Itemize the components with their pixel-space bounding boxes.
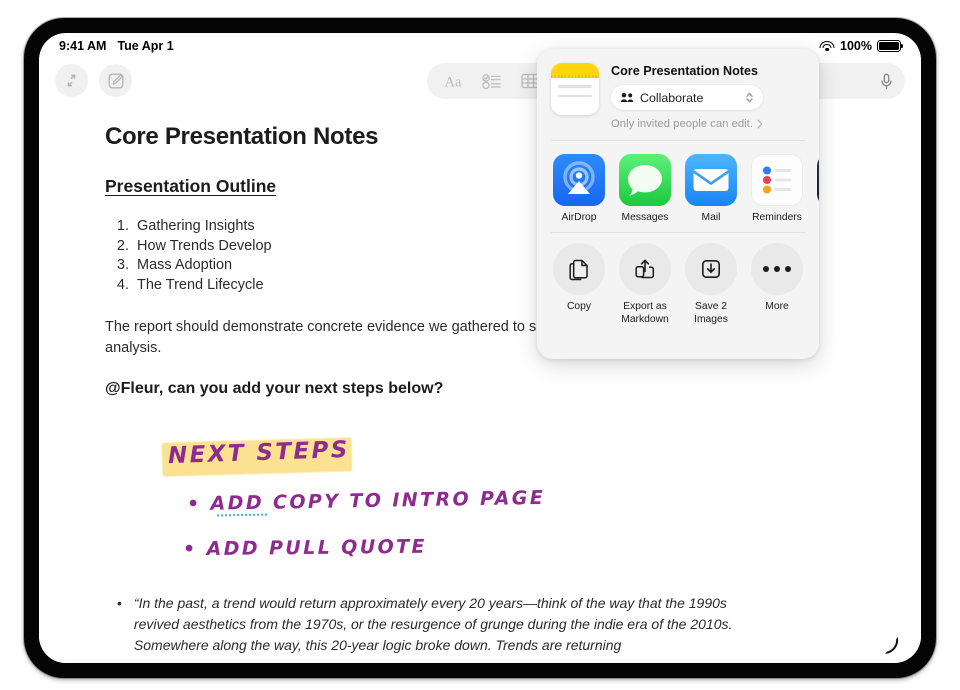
share-sheet-header: Core Presentation Notes Collaborate: [537, 49, 819, 140]
share-target-label: Reminders: [751, 212, 803, 223]
ipad-screen: 9:41 AM Tue Apr 1 100%: [39, 33, 921, 663]
battery-percent: 100%: [840, 39, 872, 53]
share-target-label: Messages: [619, 212, 671, 223]
share-doc-title: Core Presentation Notes: [611, 64, 805, 78]
action-copy[interactable]: Copy: [553, 243, 605, 326]
action-export-markdown[interactable]: Export as Markdown: [619, 243, 671, 326]
action-label: Export as Markdown: [619, 301, 671, 326]
dotted-underline-mark: [217, 514, 267, 517]
share-target-label: AirDrop: [553, 212, 605, 223]
mail-icon: [685, 154, 737, 206]
bullet-marker: •: [117, 593, 122, 656]
collapse-arrows-icon: [63, 72, 80, 89]
format-button[interactable]: Aa: [437, 67, 469, 95]
handwriting-block: NEXT STEPS • ADD COPY TO INTRO PAGE • AD…: [105, 432, 861, 577]
status-date: Tue Apr 1: [117, 39, 173, 53]
ellipsis-icon: [751, 243, 803, 295]
action-save-images[interactable]: Save 2 Images: [685, 243, 737, 326]
airdrop-icon: [553, 154, 605, 206]
compose-button[interactable]: [99, 64, 132, 97]
share-target-label: Mail: [685, 212, 737, 223]
export-share-icon: [619, 243, 671, 295]
share-target-clipped[interactable]: [817, 154, 819, 223]
reminders-icon: [751, 154, 803, 206]
mention-line: @Fleur, can you add your next steps belo…: [105, 380, 861, 398]
checklist-button[interactable]: [476, 67, 508, 95]
download-icon: [685, 243, 737, 295]
share-target-mail[interactable]: Mail: [685, 154, 737, 223]
share-target-airdrop[interactable]: AirDrop: [553, 154, 605, 223]
checklist-icon: [482, 73, 502, 90]
people-icon: [620, 92, 634, 103]
ipad-device-frame: 9:41 AM Tue Apr 1 100%: [24, 18, 936, 678]
share-actions-row: Copy Export as Markdown: [537, 233, 819, 326]
action-label: Copy: [553, 301, 605, 314]
notes-app-icon: [551, 63, 599, 115]
action-label: Save 2 Images: [685, 301, 737, 326]
status-time: 9:41 AM: [59, 39, 106, 53]
handwriting-item-2: • ADD PULL QUOTE: [183, 536, 427, 561]
wifi-icon: [819, 40, 835, 52]
permission-row[interactable]: Only invited people can edit.: [611, 118, 805, 130]
collaborate-label: Collaborate: [640, 91, 739, 105]
share-target-reminders[interactable]: Reminders: [751, 154, 803, 223]
compose-note-icon: [107, 72, 125, 90]
format-aa-icon: Aa: [441, 73, 465, 90]
action-more[interactable]: More: [751, 243, 803, 326]
battery-icon: [877, 40, 901, 52]
screenshot-root: 9:41 AM Tue Apr 1 100%: [0, 0, 960, 690]
share-target-messages[interactable]: Messages: [619, 154, 671, 223]
clipped-app-icon: [817, 154, 819, 206]
quote-block: • “In the past, a trend would return app…: [105, 593, 745, 656]
permission-text: Only invited people can edit.: [611, 118, 753, 130]
chevron-right-icon: [757, 119, 763, 129]
collaborate-dropdown[interactable]: Collaborate: [611, 85, 763, 110]
copy-icon: [553, 243, 605, 295]
share-sheet[interactable]: Core Presentation Notes Collaborate: [537, 49, 819, 359]
handwriting-item-1: • ADD COPY TO INTRO PAGE: [187, 487, 545, 515]
messages-icon: [619, 154, 671, 206]
share-targets-row: AirDrop Messages: [537, 141, 819, 232]
quote-text: “In the past, a trend would return appro…: [134, 593, 745, 656]
section-heading: Presentation Outline: [105, 176, 276, 197]
collapse-button[interactable]: [55, 64, 88, 97]
svg-text:Aa: Aa: [444, 74, 461, 90]
microphone-icon[interactable]: [880, 73, 893, 90]
action-label: More: [751, 301, 803, 314]
chevron-up-down-icon: [745, 91, 754, 104]
